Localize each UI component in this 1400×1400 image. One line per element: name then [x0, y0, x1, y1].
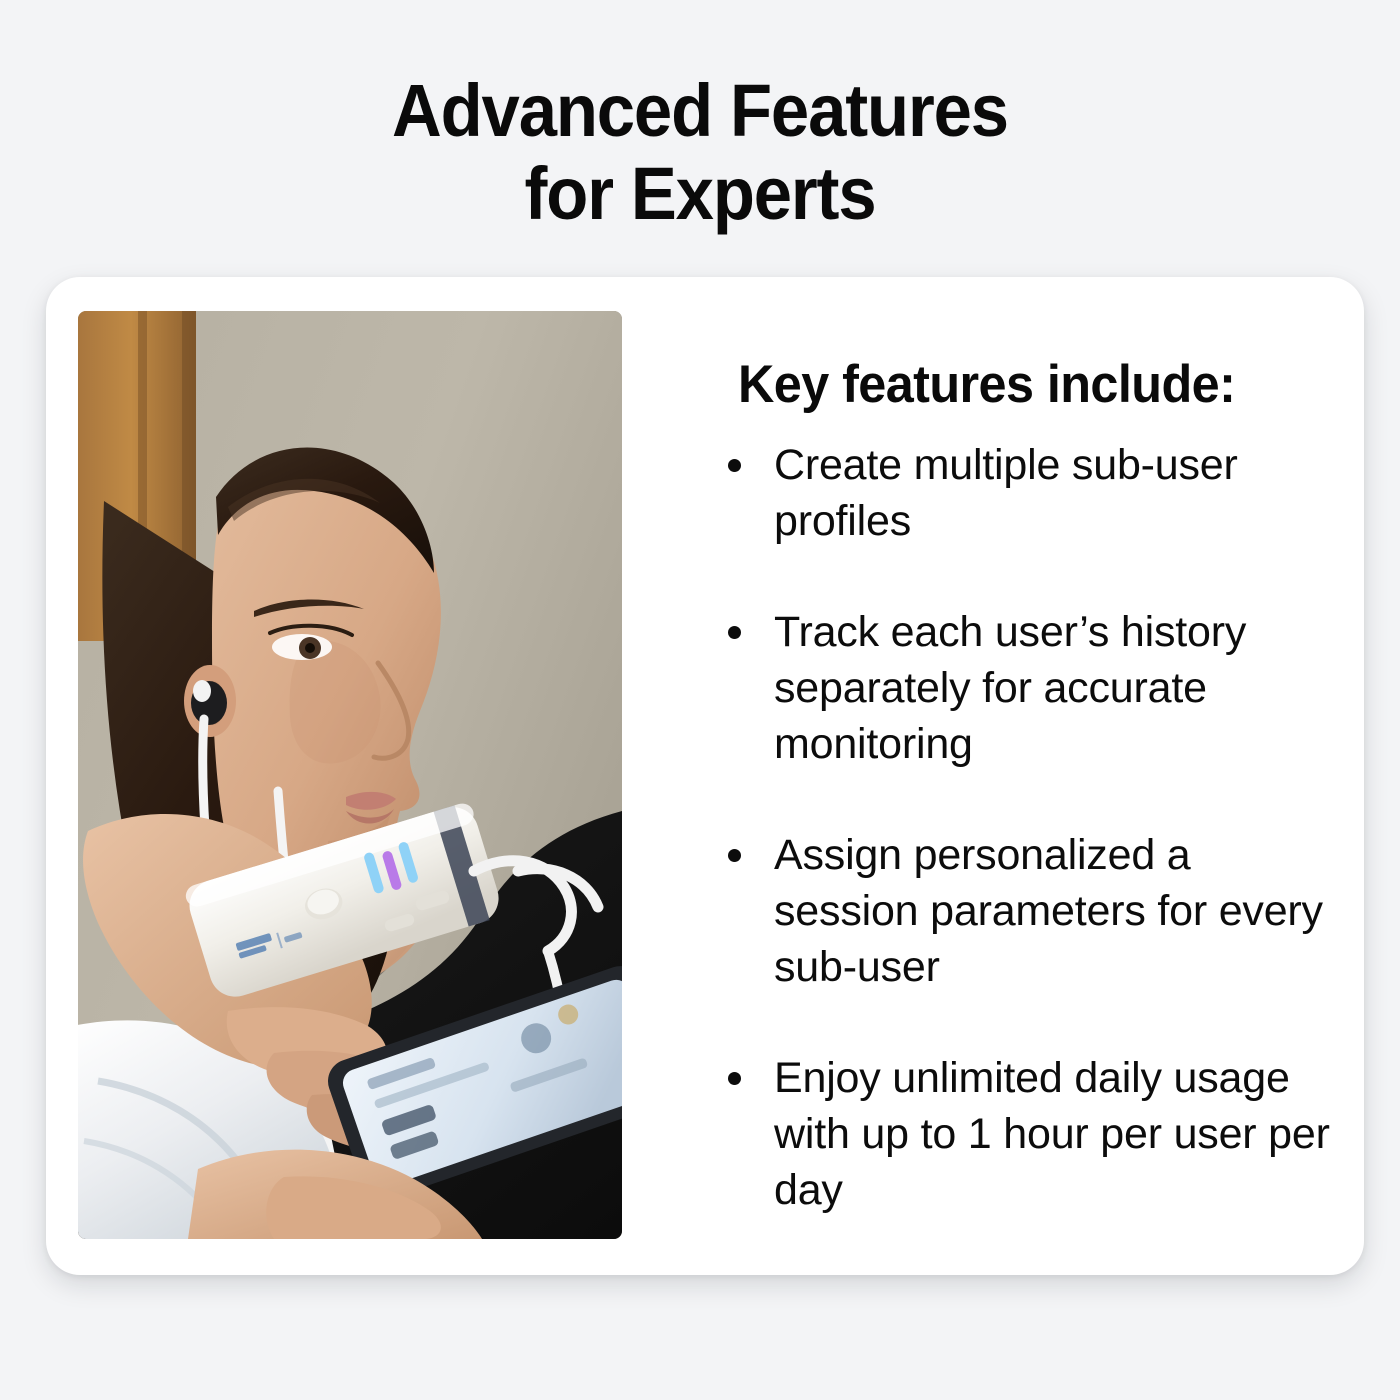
page-title: Advanced Features for Experts — [0, 70, 1400, 236]
bullet-dot-icon — [728, 626, 741, 639]
list-item: Track each user’s history separately for… — [716, 604, 1336, 772]
feature-card: Key features include: Create multiple su… — [46, 277, 1364, 1275]
list-item: Assign personalized a session parameters… — [716, 827, 1336, 995]
list-item-label: Track each user’s history separately for… — [774, 608, 1246, 768]
bullet-dot-icon — [728, 1072, 741, 1085]
list-item-label: Assign personalized a session parameters… — [774, 831, 1323, 991]
page-title-line-2: for Experts — [49, 153, 1351, 236]
product-photo-illustration — [78, 311, 622, 1239]
product-photo — [78, 311, 622, 1239]
features-panel: Key features include: Create multiple su… — [692, 277, 1352, 1275]
list-item: Create multiple sub-user profiles — [716, 437, 1336, 549]
bullet-dot-icon — [728, 459, 741, 472]
list-item-label: Create multiple sub-user profiles — [774, 441, 1238, 545]
features-heading: Key features include: — [738, 354, 1308, 415]
page-title-line-1: Advanced Features — [49, 70, 1351, 153]
bullet-dot-icon — [728, 849, 741, 862]
features-list: Create multiple sub-user profiles Track … — [716, 437, 1336, 1218]
list-item-label: Enjoy unlimited daily usage with up to 1… — [774, 1054, 1330, 1214]
list-item: Enjoy unlimited daily usage with up to 1… — [716, 1050, 1336, 1218]
